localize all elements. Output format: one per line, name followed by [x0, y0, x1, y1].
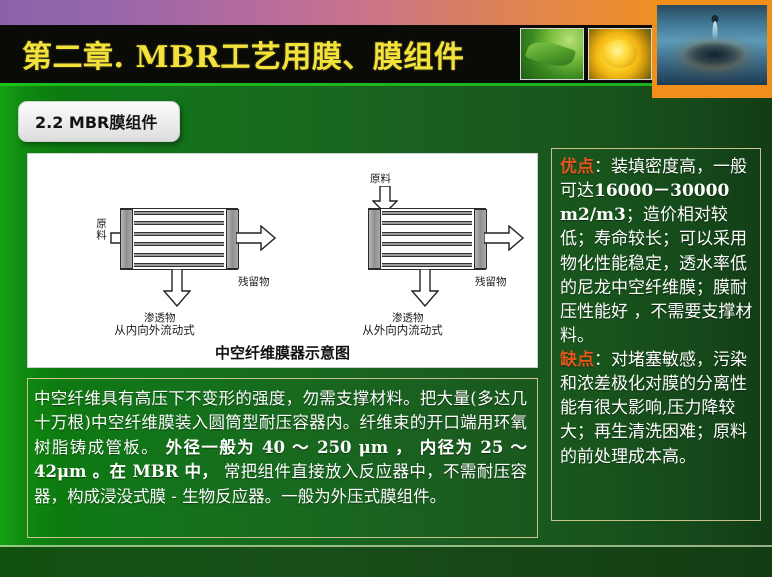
left-permeate-arrow-icon — [163, 269, 191, 307]
right-module-endcap-left — [368, 209, 381, 269]
section-subtitle-chip: 2.2 MBR膜组件 — [18, 101, 180, 142]
description-text-box: 中空纤维具有高压下不变形的强度，勿需支撑材料。把大量(多达几十万根)中空纤维膜装… — [27, 378, 538, 538]
left-membrane-module — [120, 208, 238, 270]
fiber-line — [134, 221, 224, 225]
cons-colon: ： — [594, 350, 611, 370]
droplet-icon — [713, 21, 718, 43]
right-retentate-label: 残留物 — [475, 274, 507, 289]
cons-label: 缺点 — [560, 350, 594, 370]
right-membrane-module — [368, 208, 486, 270]
description-outer-diameter: 外径一般为 40 ～ 250 μm ， — [166, 438, 414, 457]
right-retentate-arrow-icon — [484, 225, 524, 251]
water-drop-image — [657, 5, 767, 85]
rose-photo-thumbnail — [588, 28, 652, 80]
right-module-fiber-bundle — [382, 211, 472, 267]
left-retentate-label: 残留物 — [238, 274, 270, 289]
fiber-line — [382, 263, 472, 267]
bottom-strip — [0, 547, 772, 577]
right-feed-label: 原料 — [370, 171, 391, 186]
fiber-line — [134, 263, 224, 267]
left-feed-label: 原料 — [94, 218, 109, 241]
diagram-unit-inside-out: 原料 残留物 — [32, 170, 277, 340]
fiber-line — [382, 242, 472, 246]
fiber-line — [382, 253, 472, 257]
header-thumbnail-strip — [518, 26, 654, 82]
pros-cons-panel: 优点：装填密度高，一般可达16000－30000 m2/m3；造价相对较低；寿命… — [551, 148, 761, 521]
right-flow-mode-label: 从外向内流动式 — [280, 322, 525, 338]
fiber-line — [382, 211, 472, 215]
fiber-line — [134, 232, 224, 236]
diagram-unit-outside-in: 原料 残留物 — [280, 170, 525, 340]
left-module-fiber-bundle — [134, 211, 224, 267]
diagram-panel: 原料 残留物 — [27, 153, 538, 368]
diagram-caption: 中空纤维膜器示意图 — [28, 342, 537, 363]
fiber-line — [382, 221, 472, 225]
fiber-line — [134, 211, 224, 215]
slide-canvas: 第二章. MBR工艺用膜、膜组件 2.2 MBR膜组件 原料 — [0, 0, 772, 577]
left-flow-mode-label: 从内向外流动式 — [32, 322, 277, 338]
page-title: 第二章. MBR工艺用膜、膜组件 — [22, 32, 464, 76]
pros-label: 优点 — [560, 157, 594, 177]
leaf-photo-thumbnail — [520, 28, 584, 80]
water-drop-panel — [652, 0, 772, 98]
fiber-line — [134, 242, 224, 246]
left-module-endcap-left — [120, 209, 133, 269]
left-retentate-arrow-icon — [236, 225, 276, 251]
fiber-line — [134, 253, 224, 257]
fiber-line — [382, 232, 472, 236]
pros-colon: ： — [594, 157, 611, 177]
right-permeate-arrow-icon — [411, 269, 439, 307]
pros-text-b: ；造价相对较低；寿命较长；可以采用物化性能稳定，透水率低的尼龙中空纤维膜；膜耐压… — [560, 205, 752, 346]
